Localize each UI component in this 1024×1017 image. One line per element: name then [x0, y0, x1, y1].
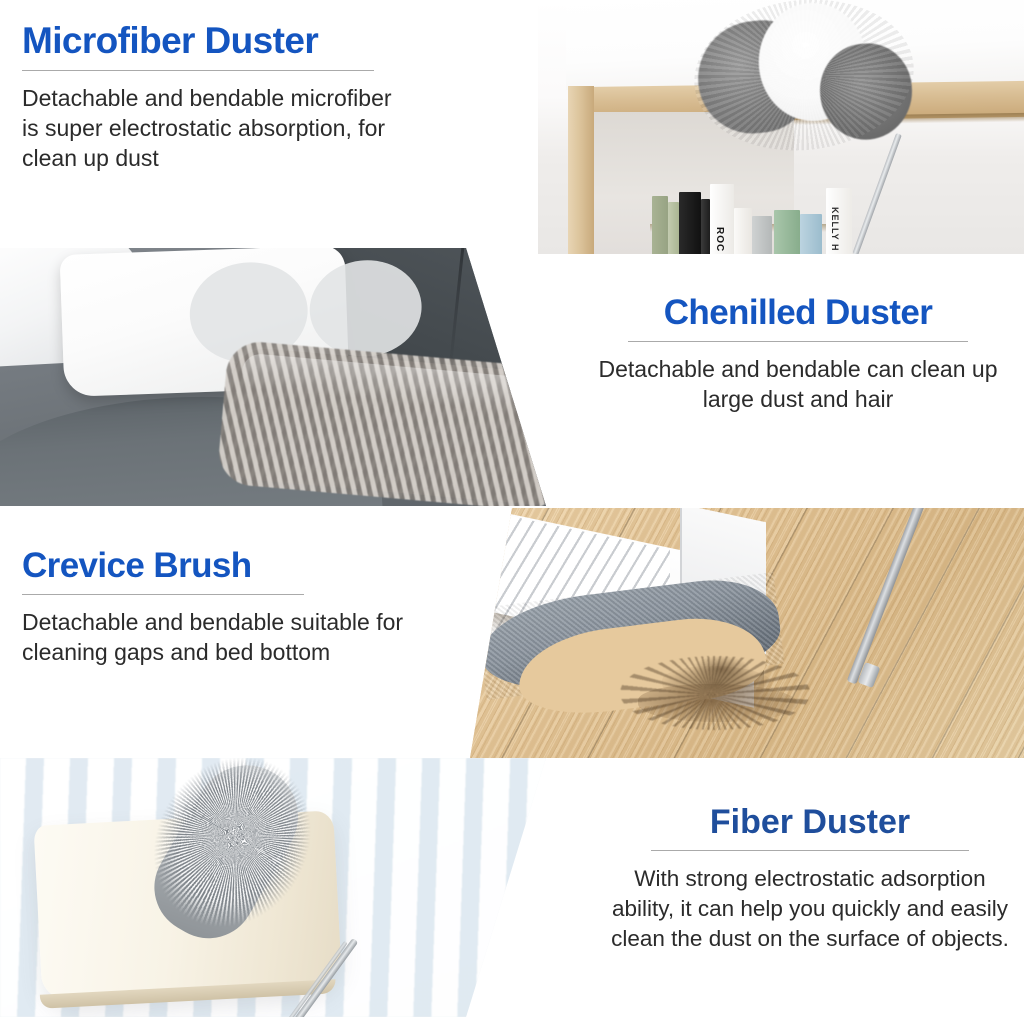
heading-divider: [22, 594, 304, 595]
dust-flecks: [620, 656, 810, 730]
photo-panel-microfiber-bookshelf: ROC KELLY H: [538, 0, 1024, 254]
book-spine: [774, 210, 800, 254]
feature-heading-chenille: Chenilled Duster: [588, 295, 1008, 332]
book-spine: [679, 192, 701, 254]
book-spine: [752, 216, 772, 254]
heading-divider: [22, 70, 374, 71]
feature-block-microfiber: Microfiber Duster Detachable and bendabl…: [22, 22, 442, 174]
book-spine-label-kelly: KELLY H: [830, 207, 840, 252]
photo-panel-crevice-mop-floor: [462, 508, 1024, 758]
book-spine: [652, 196, 668, 254]
book-spine: [800, 214, 822, 254]
feature-heading-crevice: Crevice Brush: [22, 548, 462, 585]
dust-debris-pile: [620, 656, 810, 730]
feature-heading-fiber: Fiber Duster: [604, 805, 1016, 841]
heading-divider: [651, 850, 969, 851]
microfiber-duster-head: [691, 0, 917, 157]
feature-body-microfiber: Detachable and bendable microfiber is su…: [22, 84, 394, 174]
chenille-duster-head: [223, 346, 546, 506]
feature-body-chenille: Detachable and bendable can clean up lar…: [588, 355, 1008, 415]
duster-fiber-texture: [687, 0, 921, 161]
book-spine: [701, 199, 710, 254]
photo-panel-fiber-duster-lamp: [0, 758, 546, 1017]
photo-panel-chenille-sofa: [0, 248, 546, 506]
shelf-wood-post: [568, 86, 594, 254]
feature-body-crevice: Detachable and bendable suitable for cle…: [22, 608, 447, 668]
book-spine: [668, 202, 679, 254]
feature-block-crevice: Crevice Brush Detachable and bendable su…: [22, 548, 462, 668]
book-spine: [734, 208, 752, 254]
feature-block-fiber: Fiber Duster With strong electrostatic a…: [604, 805, 1016, 954]
feature-block-chenille: Chenilled Duster Detachable and bendable…: [588, 295, 1008, 415]
heading-divider: [628, 341, 968, 342]
book-spine-label-roc: ROC: [714, 227, 725, 252]
feature-body-fiber: With strong electrostatic adsorption abi…: [604, 864, 1016, 954]
feature-heading-microfiber: Microfiber Duster: [22, 22, 442, 61]
product-feature-infographic: ROC KELLY H: [0, 0, 1024, 1017]
